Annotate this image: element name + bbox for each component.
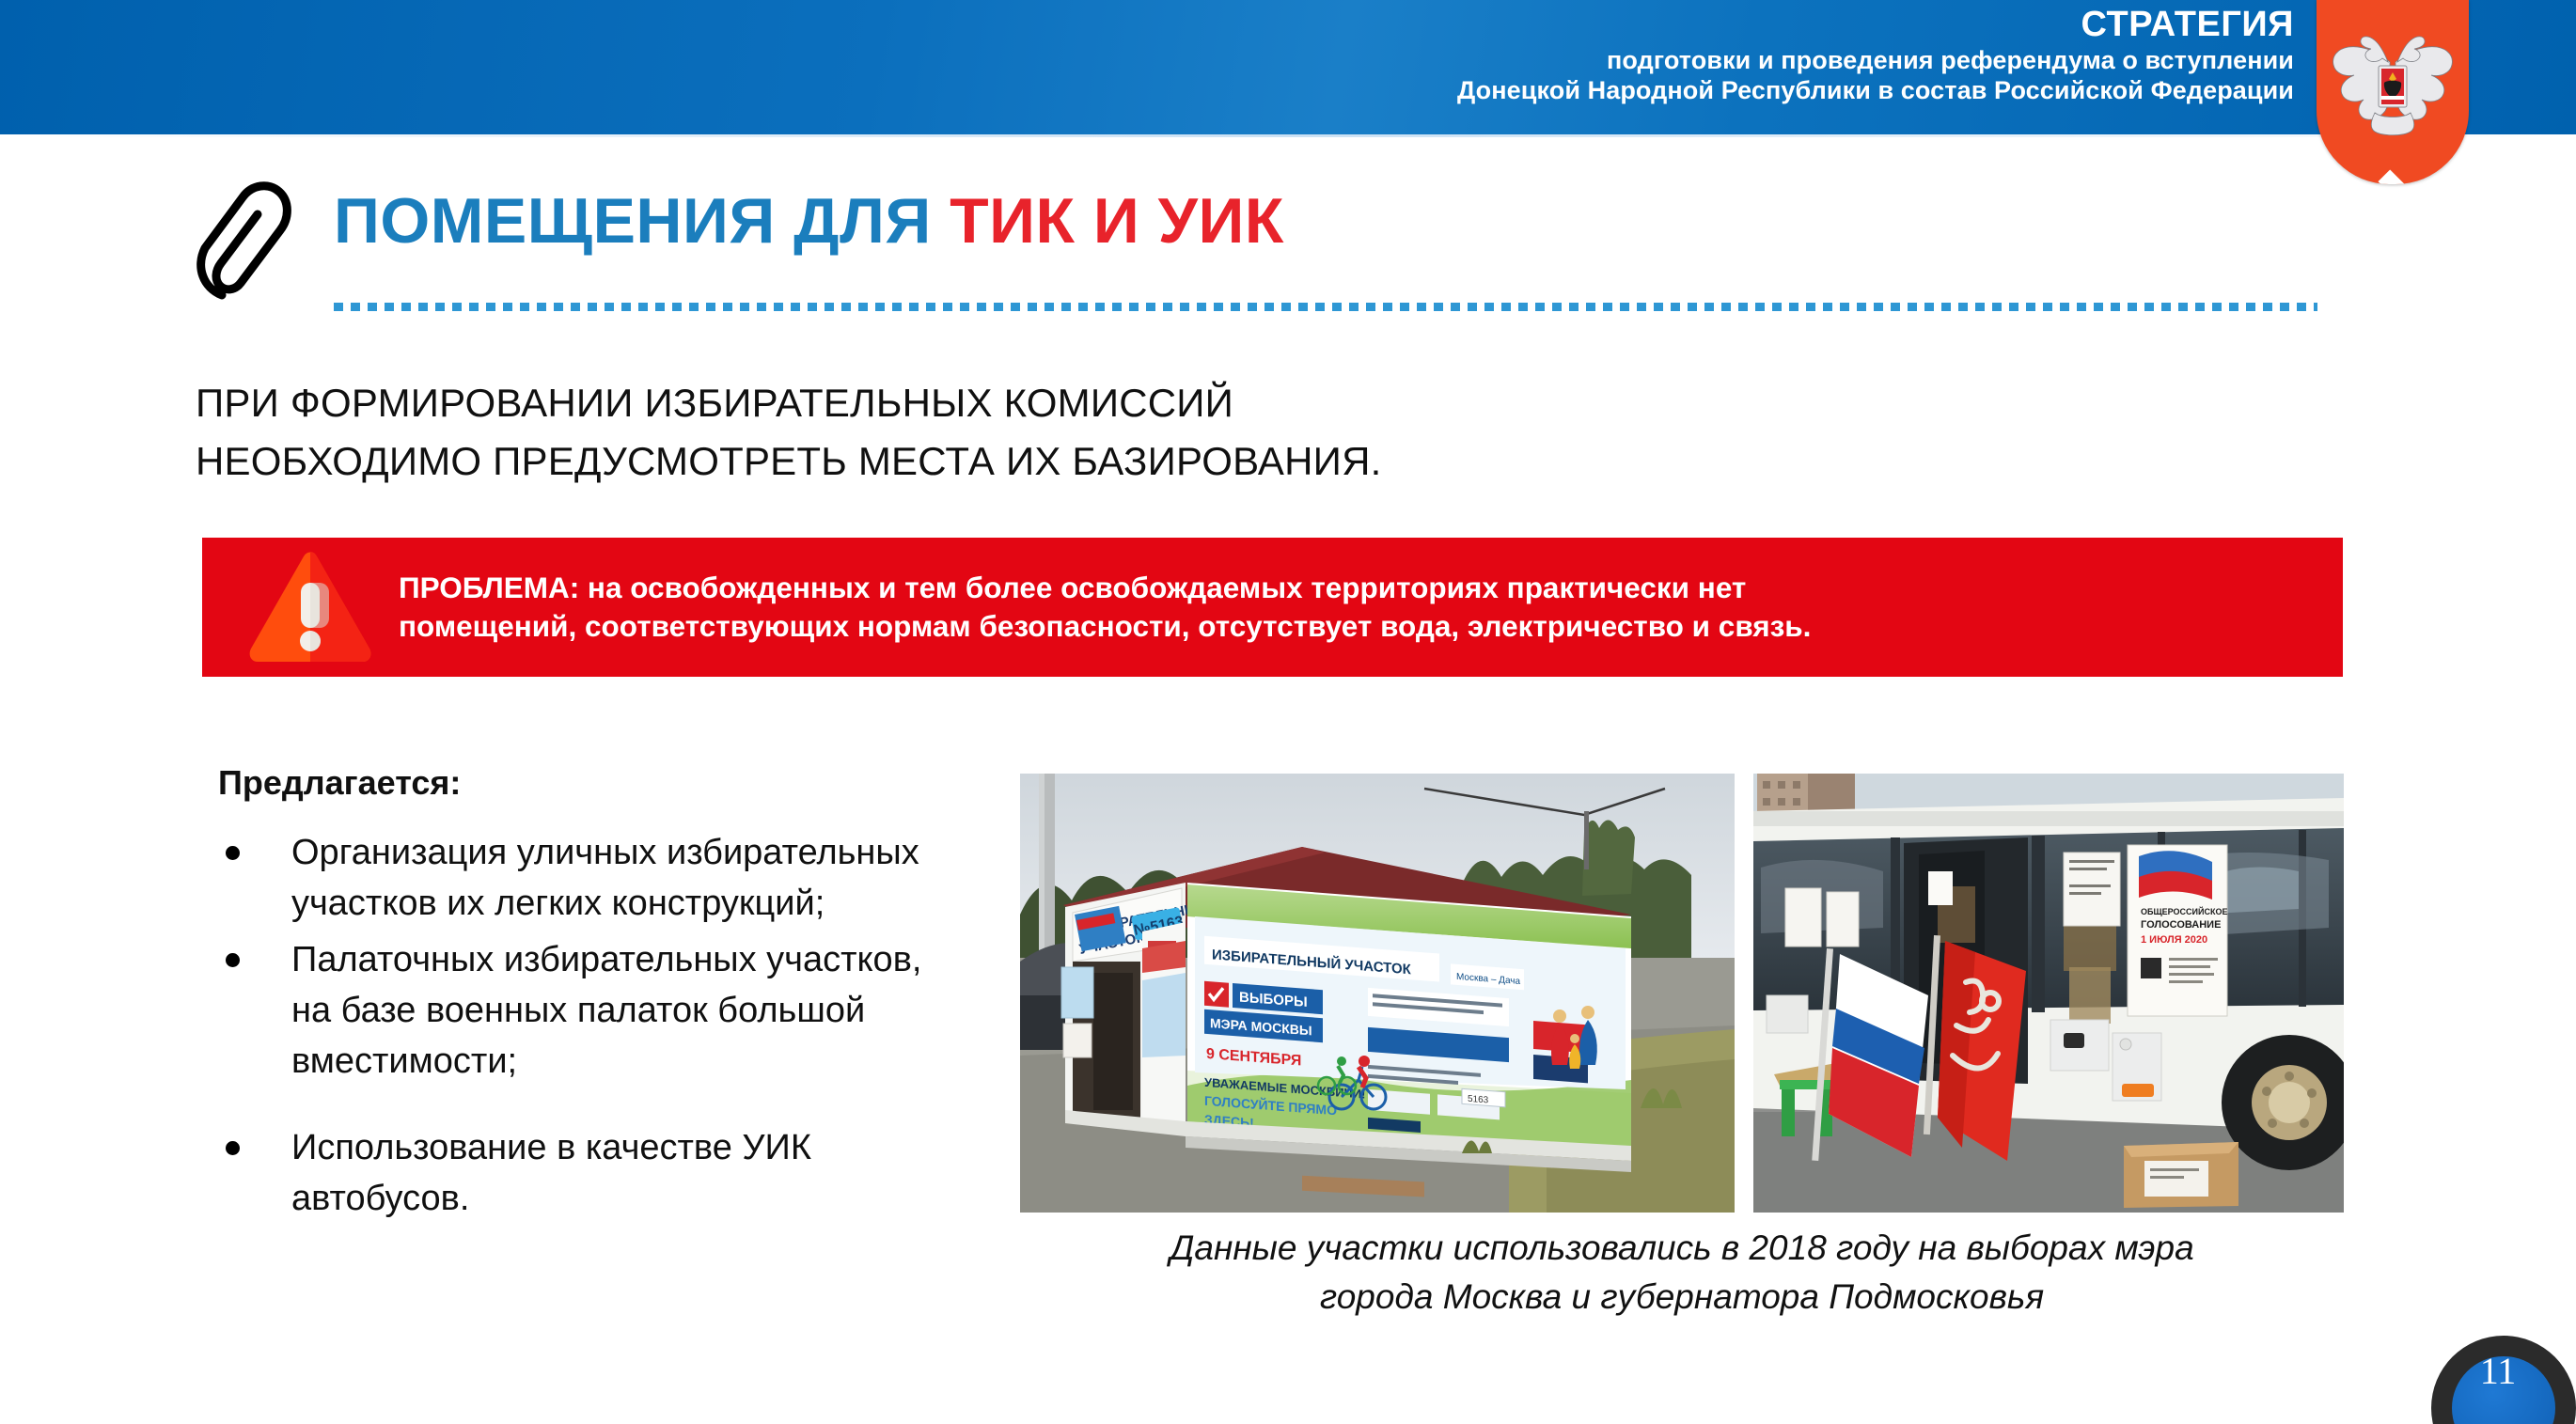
list-item: Палаточных избирательных участков, на ба… bbox=[218, 934, 961, 1087]
page-title-red: ТИК И УИК bbox=[950, 185, 1284, 257]
page-title-blue: ПОМЕЩЕНИЯ ДЛЯ bbox=[334, 185, 950, 257]
lead-paragraph: ПРИ ФОРМИРОВАНИИ ИЗБИРАТЕЛЬНЫХ КОМИССИЙ … bbox=[196, 374, 1794, 491]
svg-text:ГОЛОСОВАНИЕ: ГОЛОСОВАНИЕ bbox=[2141, 919, 2221, 931]
problem-banner: ПРОБЛЕМА: на освобожденных и тем более о… bbox=[202, 538, 2343, 677]
presentation-subtitle-line1: подготовки и проведения референдума о вс… bbox=[1072, 45, 2294, 75]
problem-banner-text: ПРОБЛЕМА: на освобожденных и тем более о… bbox=[399, 569, 1830, 646]
list-item-label: Организация уличных избирательных участк… bbox=[291, 833, 919, 923]
bullet-dot-icon bbox=[226, 1141, 240, 1155]
lead-line-1: ПРИ ФОРМИРОВАНИИ ИЗБИРАТЕЛЬНЫХ КОМИССИЙ bbox=[196, 374, 1794, 432]
page-title: ПОМЕЩЕНИЯ ДЛЯ ТИК И УИК bbox=[334, 184, 1284, 258]
title-dotted-rule bbox=[334, 303, 2317, 311]
list-item-label: Палаточных избирательных участков, на ба… bbox=[291, 940, 921, 1081]
page-number: 11 bbox=[2431, 1349, 2565, 1393]
header-text-block: СТРАТЕГИЯ подготовки и проведения рефере… bbox=[1072, 2, 2294, 105]
lead-line-2: НЕОБХОДИМО ПРЕДУСМОТРЕТЬ МЕСТА ИХ БАЗИРО… bbox=[196, 432, 1794, 491]
page-number-badge: 11 bbox=[2431, 1336, 2576, 1424]
photo-caption-line-1: Данные участки использовались в 2018 год… bbox=[1020, 1224, 2344, 1273]
proposals-heading: Предлагается: bbox=[218, 763, 461, 803]
list-item: Организация уличных избирательных участк… bbox=[218, 827, 961, 929]
bullet-dot-icon bbox=[226, 953, 240, 967]
bullet-dot-icon bbox=[226, 846, 240, 860]
list-item-label: Использование в качестве УИК автобусов. bbox=[291, 1128, 811, 1218]
problem-line-1: ПРОБЛЕМА: на освобожденных и тем более о… bbox=[399, 569, 1811, 607]
photo-caption: Данные участки использовались в 2018 год… bbox=[1020, 1224, 2344, 1322]
proposals-list: Организация уличных избирательных участк… bbox=[218, 827, 961, 1229]
problem-line-2: помещений, соответствующих нормам безопа… bbox=[399, 607, 1811, 646]
svg-text:5163: 5163 bbox=[1468, 1094, 1489, 1106]
presentation-subtitle-line2: Донецкой Народной Республики в состав Ро… bbox=[1072, 75, 2294, 105]
double-headed-eagle-icon bbox=[2317, 21, 2469, 143]
presentation-title: СТРАТЕГИЯ bbox=[1072, 6, 2294, 43]
photo-caption-line-2: города Москва и губернатора Подмосковья bbox=[1020, 1273, 2344, 1322]
paperclip-icon bbox=[179, 177, 310, 316]
voting-bus-photo: ОБЩЕРОССИЙСКОЕ ГОЛОСОВАНИЕ 1 ИЮЛЯ 2020 bbox=[1753, 774, 2344, 1213]
polling-station-container-photo: ИЗБИРАТЕЛЬНЫЙ УЧАСТОК №5163 ИЗБИРАТЕЛЬНЫ… bbox=[1020, 774, 1735, 1213]
dnr-coat-of-arms-shield bbox=[2317, 0, 2469, 184]
voting-bus-illustration: ОБЩЕРОССИЙСКОЕ ГОЛОСОВАНИЕ 1 ИЮЛЯ 2020 bbox=[1753, 774, 2344, 1213]
polling-station-illustration: ИЗБИРАТЕЛЬНЫЙ УЧАСТОК №5163 ИЗБИРАТЕЛЬНЫ… bbox=[1020, 774, 1735, 1213]
svg-text:ОБЩЕРОССИЙСКОЕ: ОБЩЕРОССИЙСКОЕ bbox=[2141, 906, 2227, 916]
warning-triangle-icon bbox=[246, 551, 374, 664]
list-item: Использование в качестве УИК автобусов. bbox=[218, 1122, 961, 1224]
svg-text:1 ИЮЛЯ 2020: 1 ИЮЛЯ 2020 bbox=[2141, 934, 2207, 946]
